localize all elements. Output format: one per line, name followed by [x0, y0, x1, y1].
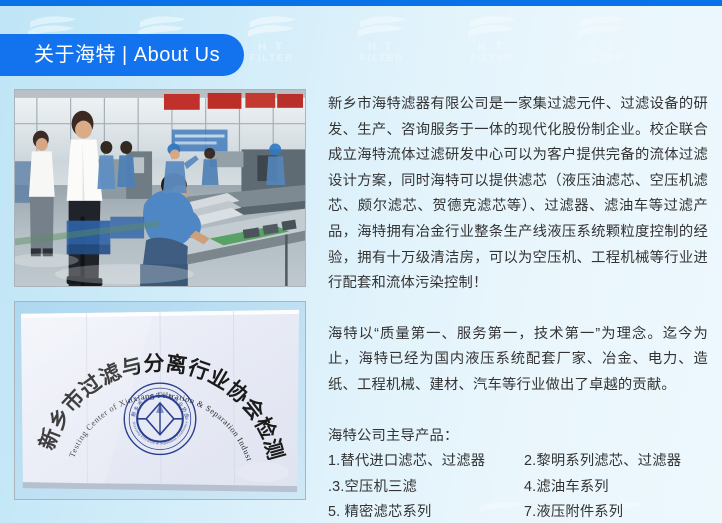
workshop-photo [14, 89, 306, 287]
svg-text:FILTER: FILTER [360, 53, 404, 64]
svg-text:H T: H T [368, 41, 395, 53]
svg-text:H T: H T [258, 41, 285, 53]
svg-text:H T: H T [478, 41, 505, 53]
about-copy: 新乡市海特滤器有限公司是一家集过滤元件、过滤设备的研发、生产、咨询服务于一体的现… [328, 92, 708, 523]
brand-watermark-icon: H T FILTER [348, 10, 444, 66]
product-row: 1.替代进口滤芯、过滤器 2.黎明系列滤芯、过滤器 [328, 449, 708, 475]
product-row: 5. 精密滤芯系列 7.液压附件系列 [328, 500, 708, 523]
product-item: .3.空压机三滤 [328, 475, 524, 501]
plaque-photo: 新乡市过滤与分离行业协会检测中心 Testing Center of Xinxi… [14, 301, 306, 500]
products-heading: 海特公司主导产品： [328, 424, 708, 450]
brand-watermark-icon: H T FILTER [458, 10, 554, 66]
svg-text:FILTER: FILTER [580, 53, 624, 64]
section-title-pill: 关于海特 | About Us [0, 34, 244, 76]
svg-text:H T: H T [588, 41, 615, 53]
page-title: 关于海特 | About Us [34, 45, 220, 65]
philosophy-paragraph: 海特以“质量第一、服务第一，技术第一”为理念。迄今为止，海特已经为国内液压系统配… [328, 322, 708, 399]
product-item: 2.黎明系列滤芯、过滤器 [524, 449, 708, 475]
product-item: 7.液压附件系列 [524, 500, 708, 523]
product-row: .3.空压机三滤 4.滤油车系列 [328, 475, 708, 501]
product-item: 4.滤油车系列 [524, 475, 708, 501]
top-accent-rule [0, 0, 722, 6]
svg-text:FILTER: FILTER [250, 53, 294, 64]
product-item: 1.替代进口滤芯、过滤器 [328, 449, 524, 475]
brand-watermark-icon: H T FILTER [238, 10, 334, 66]
brand-watermark-icon: H T FILTER [568, 10, 664, 66]
intro-paragraph: 新乡市海特滤器有限公司是一家集过滤元件、过滤设备的研发、生产、咨询服务于一体的现… [328, 92, 708, 297]
about-us-page: H T FILTER H T FILTER H T FILTER [0, 0, 722, 523]
svg-text:FILTER: FILTER [470, 53, 514, 64]
product-item: 5. 精密滤芯系列 [328, 500, 524, 523]
